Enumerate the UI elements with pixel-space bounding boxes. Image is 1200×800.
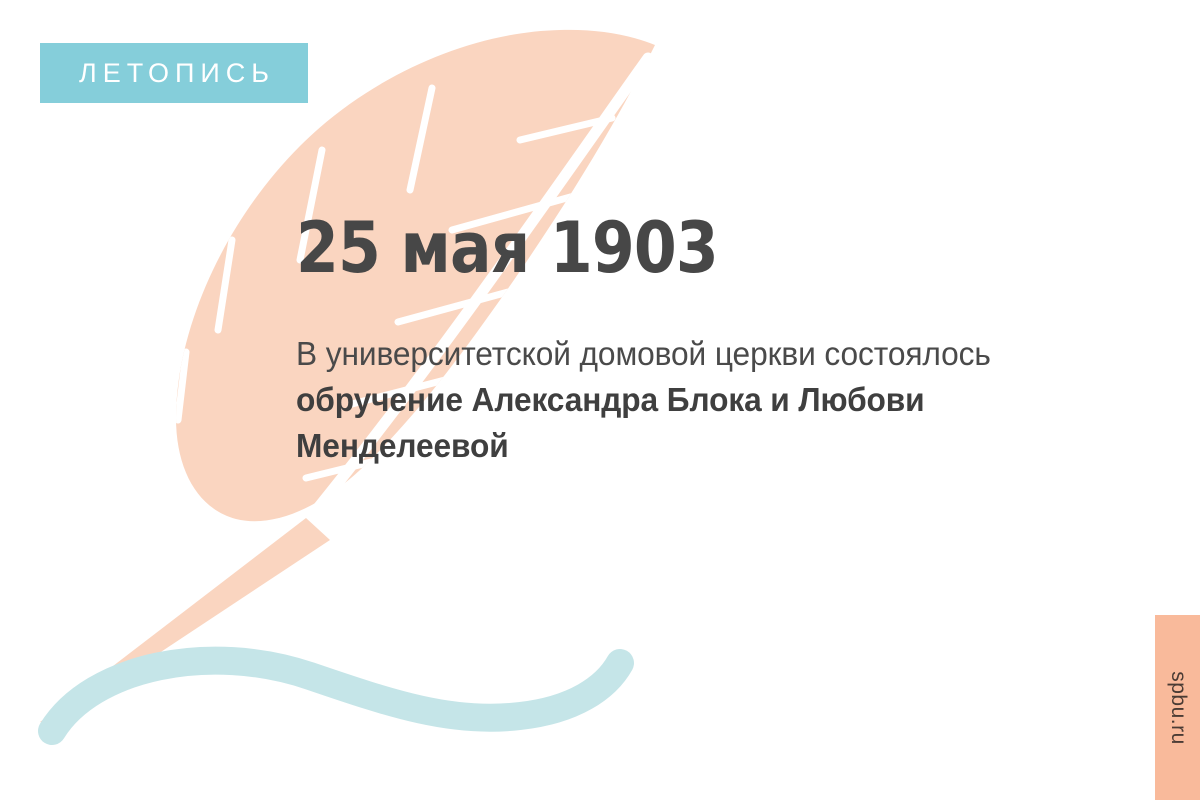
description-bold-part: обручение Александра Блока и Любови Менд… <box>296 381 925 464</box>
description-text: В университетской домовой церкви состоял… <box>296 285 1100 470</box>
category-badge: ЛЕТОПИСЬ <box>40 43 308 103</box>
date-headline: 25 мая 1903 <box>296 212 1035 285</box>
teal-wave-flourish <box>52 661 620 731</box>
site-tab[interactable]: spbu.ru <box>1155 615 1200 800</box>
category-badge-label: ЛЕТОПИСЬ <box>73 60 275 87</box>
content-block: 25 мая 1903 В университетской домовой це… <box>296 212 1136 469</box>
site-tab-label: spbu.ru <box>1166 671 1190 745</box>
quill-shaft <box>40 518 330 724</box>
letopis-card: ЛЕТОПИСЬ 25 мая 1903 В университетской д… <box>0 0 1200 800</box>
description-regular-part: В университетской домовой церкви состоял… <box>296 335 991 372</box>
